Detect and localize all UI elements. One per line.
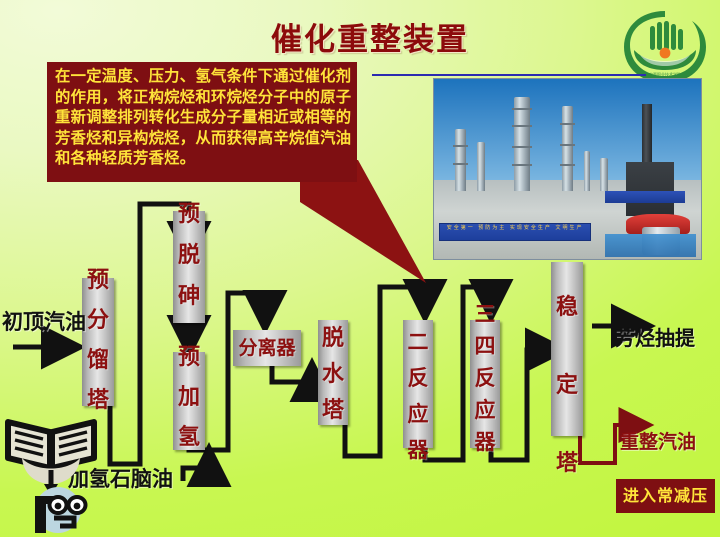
unit-dehydration-tower[interactable]: 脱 水 塔 bbox=[318, 320, 348, 425]
unit-stabilizer-tower[interactable]: 稳 定 塔 bbox=[551, 262, 583, 436]
book-and-face-cartoon bbox=[2, 406, 106, 534]
unit-pre-fractionator-label: 预 分 馏 塔 bbox=[82, 260, 114, 420]
label-aromatics-extraction: 芳烃抽提 bbox=[615, 322, 695, 351]
description-callout: 在一定温度、压力、氢气条件下通过催化剂 的作用，将正构烷烃和环烷烃分子中的原子 … bbox=[47, 62, 357, 182]
unit-pre-hydrogenation[interactable]: 预 加 氢 bbox=[173, 352, 205, 450]
unit-pre-arsenic-removal-label: 预 脱 砷 bbox=[173, 194, 205, 317]
unit-separator-label: 分离器 bbox=[233, 330, 301, 366]
slide-canvas: 催化重整装置 宁夏职业技术学院 bbox=[0, 0, 720, 537]
unit-pre-arsenic-removal[interactable]: 预 脱 砷 bbox=[173, 211, 205, 323]
unit-second-reactor-label: 二 反 应 器 bbox=[403, 324, 433, 468]
tail-destination-box[interactable]: 进入常减压 bbox=[616, 479, 715, 513]
unit-dehydration-tower-label: 脱 水 塔 bbox=[318, 320, 348, 428]
label-feed: 初顶汽油 bbox=[2, 306, 86, 336]
unit-third-fourth-reactor-label: 三 四 反 应 器 bbox=[470, 298, 500, 458]
unit-pre-hydrogenation-label: 预 加 氢 bbox=[173, 337, 205, 457]
unit-separator[interactable]: 分离器 bbox=[233, 330, 301, 366]
cartoon-face-icon bbox=[35, 487, 86, 533]
description-text: 在一定温度、压力、氢气条件下通过催化剂 的作用，将正构烷烃和环烷烃分子中的原子 … bbox=[47, 62, 357, 169]
label-reformate-gasoline: 重整汽油 bbox=[620, 427, 696, 454]
unit-third-fourth-reactor[interactable]: 三 四 反 应 器 bbox=[470, 320, 500, 448]
unit-pre-fractionator[interactable]: 预 分 馏 塔 bbox=[82, 278, 114, 406]
unit-stabilizer-tower-label: 稳 定 塔 bbox=[551, 268, 583, 502]
unit-second-reactor[interactable]: 二 反 应 器 bbox=[403, 320, 433, 448]
tail-destination-label: 进入常减压 bbox=[616, 479, 715, 513]
